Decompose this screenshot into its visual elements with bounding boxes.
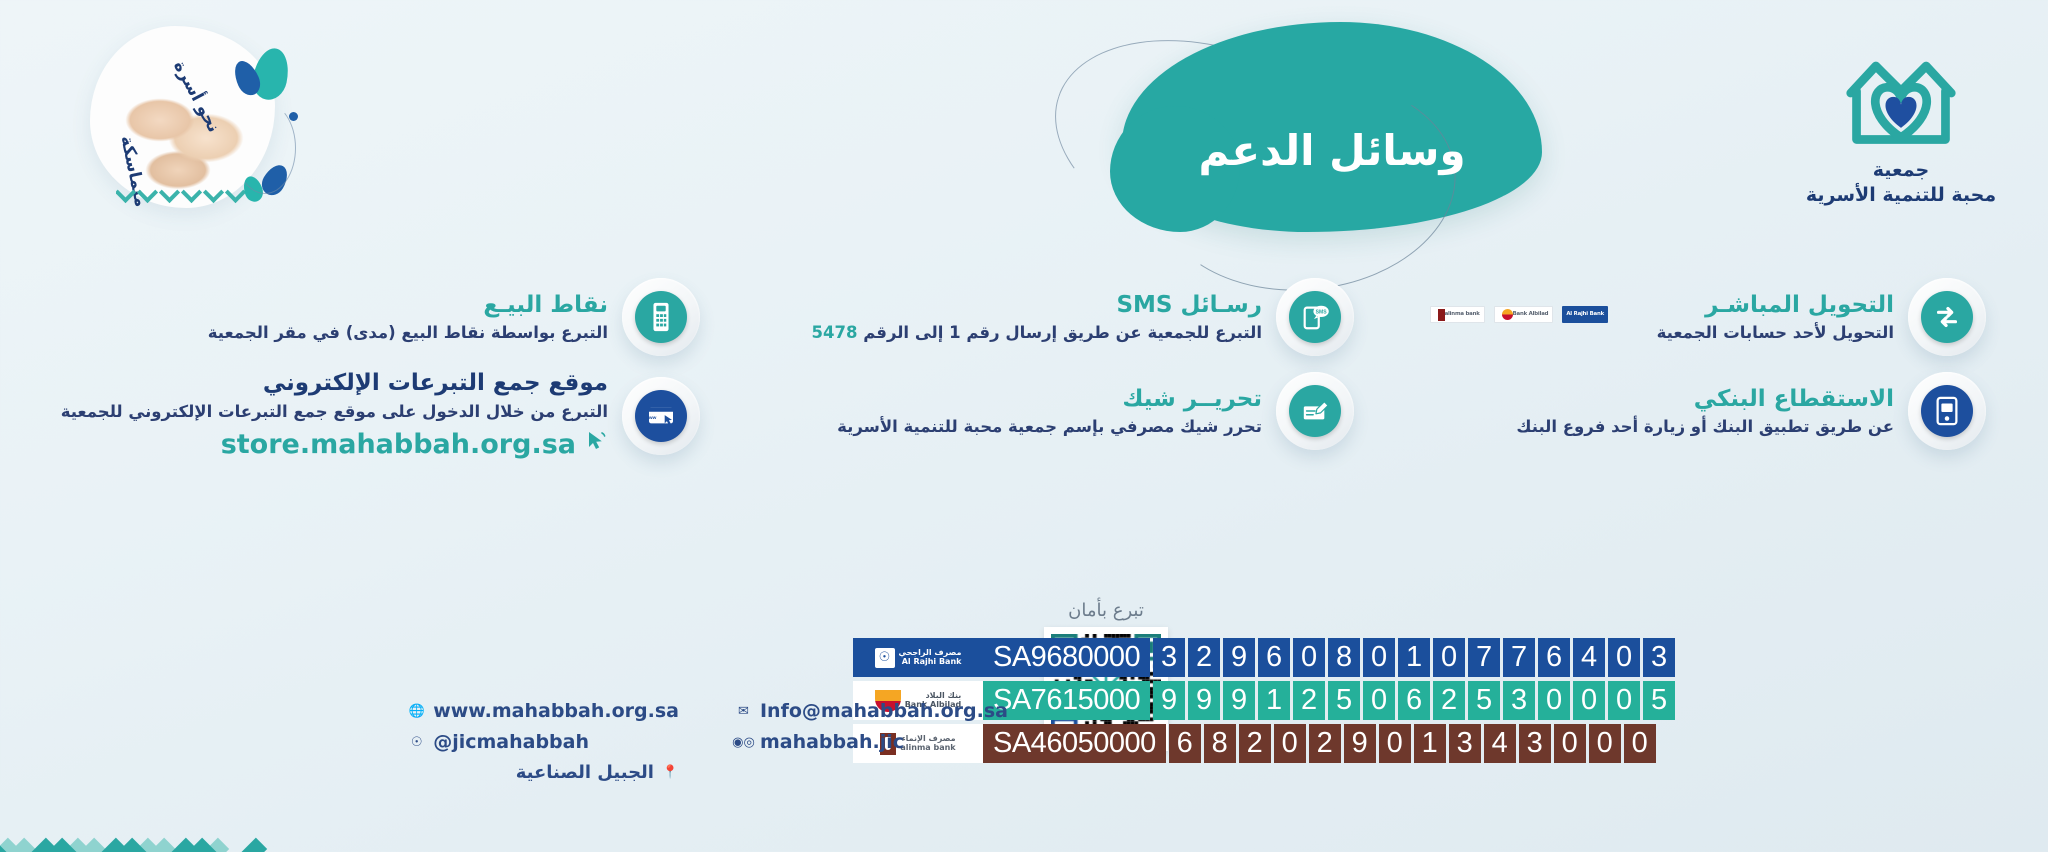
pos-terminal-button[interactable] xyxy=(622,278,700,356)
twitter-icon: ☉ xyxy=(408,734,425,751)
iban-digit: 0 xyxy=(1538,681,1570,720)
channel-online-store[interactable]: www موقع جمع التبرعات الإلكتروني التبرع … xyxy=(61,368,700,463)
sms-phone-button[interactable]: SMS xyxy=(1276,278,1354,356)
channel-direct-transfer[interactable]: التحويل المباشـر التحويل لأحد حسابات الج… xyxy=(1657,278,1986,356)
channel-description: التبرع بواسطة نقاط البيع (مدى) في مقر ال… xyxy=(208,322,608,344)
channel-sms[interactable]: SMS رسـائل SMS التبرع للجمعية عن طريق إر… xyxy=(812,278,1354,356)
iban-digit: 0 xyxy=(1573,681,1605,720)
contact-email-label: Info@mahabbah.org.sa xyxy=(760,700,1008,722)
iban-digit: 7 xyxy=(1468,638,1500,677)
iban-prefix: SA7615000 xyxy=(983,681,1150,720)
iban-digit: 9 xyxy=(1153,681,1185,720)
contact-twitter[interactable]: ☉ @jicmahabbah xyxy=(408,731,679,753)
al-rajhi-bank-logo: Al Rajhi Bank xyxy=(1562,306,1608,323)
arc-ornament xyxy=(234,102,296,194)
iban-digits: 999125062530005 xyxy=(1150,681,1675,720)
iban-digit: 3 xyxy=(1153,638,1185,677)
channel-description: عن طريق تطبيق البنك أو زيارة أحد فروع ال… xyxy=(1516,416,1894,438)
footer-contacts: ✉ Info@mahabbah.org.sa ◉◎ mahabbah.jic 🌐… xyxy=(408,700,1008,783)
badge-line-1: نحو أسرة xyxy=(169,57,223,136)
channel-text: نقاط البيـع التبرع بواسطة نقاط البيع (مد… xyxy=(208,290,608,345)
zigzag-ornament xyxy=(116,180,248,206)
iban-prefix: SA46050000 xyxy=(983,724,1166,763)
channel-title: رسـائل SMS xyxy=(812,290,1262,321)
iban-digit: 2 xyxy=(1309,724,1341,763)
iban-digit: 8 xyxy=(1204,724,1236,763)
iban-digit: 8 xyxy=(1328,638,1360,677)
iban-digit: 5 xyxy=(1468,681,1500,720)
iban-digit: 0 xyxy=(1363,681,1395,720)
bank-app-button[interactable] xyxy=(1908,372,1986,450)
iban-digits: 329608010776403 xyxy=(1150,638,1675,677)
bank-logos-strip: alinma bank Bank Albilad Al Rajhi Bank xyxy=(1430,306,1608,323)
contacts-column-left: 🌐 www.mahabbah.org.sa ☉ @jicmahabbah 📍 ا… xyxy=(408,700,679,783)
house-with-heart-logo xyxy=(1843,42,1959,148)
web-card-button[interactable]: www xyxy=(622,377,700,455)
organization-name-line-1: جمعية xyxy=(1786,158,2016,183)
iban-digit: 2 xyxy=(1188,638,1220,677)
iban-digit: 1 xyxy=(1398,638,1430,677)
organization-logo: جمعية محبة للتنمية الأسرية xyxy=(1786,42,2016,208)
contact-twitter-label: @jicmahabbah xyxy=(433,731,589,753)
iban-digit: 1 xyxy=(1414,724,1446,763)
iban-digit: 0 xyxy=(1274,724,1306,763)
al-rajhi-bank-logo: ☉ مصرف الراجحي Al Rajhi Bank xyxy=(853,638,983,677)
organization-name: جمعية محبة للتنمية الأسرية xyxy=(1786,158,2016,208)
hero-banner: وسائل الدعم xyxy=(1122,22,1542,232)
al-rajhi-symbol: ☉ xyxy=(875,648,895,668)
channel-description: التبرع من خلال الدخول على موقع جمع التبر… xyxy=(61,401,608,423)
iban-digit: 3 xyxy=(1643,638,1675,677)
web-card-icon: www xyxy=(635,390,687,442)
channel-description: التحويل لأحد حسابات الجمعية xyxy=(1657,322,1894,344)
iban-row-al-rajhi: ☉ مصرف الراجحي Al Rajhi Bank SA9680000 3… xyxy=(853,638,1988,677)
alinma-bank-logo: alinma bank xyxy=(1430,306,1485,323)
svg-text:www: www xyxy=(646,415,657,420)
dot-ornament xyxy=(289,112,298,121)
transfer-arrows-button[interactable] xyxy=(1908,278,1986,356)
contact-social-label: mahabbah.jic xyxy=(760,731,904,753)
iban-digit: 4 xyxy=(1484,724,1516,763)
bank-name-en: Al Rajhi Bank xyxy=(902,657,962,666)
channel-text: تحريــر شيك تحرر شيك مصرفي بإسم جمعية مح… xyxy=(837,384,1262,439)
pos-terminal-icon xyxy=(635,291,687,343)
contact-social[interactable]: ◉◎ mahabbah.jic xyxy=(735,731,1008,753)
iban-digit: 5 xyxy=(1328,681,1360,720)
iban-digit: 0 xyxy=(1608,681,1640,720)
iban-digit: 5 xyxy=(1643,681,1675,720)
svg-text:SMS: SMS xyxy=(1316,309,1328,315)
channel-description: التبرع للجمعية عن طريق إرسال رقم 1 إلى ا… xyxy=(812,322,1262,344)
social-icons: ◉◎ xyxy=(735,734,752,751)
sms-phone-icon: SMS xyxy=(1289,291,1341,343)
channel-title: نقاط البيـع xyxy=(208,290,608,321)
iban-digit: 2 xyxy=(1433,681,1465,720)
tagline-badge: نحو أسرة متماسكة xyxy=(72,18,302,218)
channel-title: التحويل المباشـر xyxy=(1657,290,1894,321)
iban-digit: 2 xyxy=(1239,724,1271,763)
organization-name-line-2: محبة للتنمية الأسرية xyxy=(1786,183,2016,208)
channel-title: الاستقطاع البنكي xyxy=(1516,384,1894,415)
store-url-row[interactable]: store.mahabbah.org.sa xyxy=(61,427,608,463)
contact-address: 📍 الجبيل الصناعية xyxy=(408,762,679,783)
iban-digit: 0 xyxy=(1433,638,1465,677)
iban-digit: 2 xyxy=(1293,681,1325,720)
bank-name-ar: مصرف الراجحي xyxy=(899,648,962,657)
bank-name-ar: بنك البلاد xyxy=(926,691,962,700)
iban-digits: 68202901343000 xyxy=(1166,724,1656,763)
iban-digit: 0 xyxy=(1554,724,1586,763)
transfer-arrows-icon xyxy=(1921,291,1973,343)
badge-text: نحو أسرة متماسكة xyxy=(82,32,260,202)
contact-website[interactable]: 🌐 www.mahabbah.org.sa xyxy=(408,700,679,722)
iban-digit: 3 xyxy=(1519,724,1551,763)
iban-digit: 9 xyxy=(1344,724,1376,763)
bank-albilad-logo: Bank Albilad xyxy=(1494,306,1554,323)
iban-prefix: SA9680000 xyxy=(983,638,1150,677)
iban-digit: 0 xyxy=(1293,638,1325,677)
poster-canvas: نحو أسرة متماسكة وسائل الدعم xyxy=(0,0,2048,852)
contact-website-label: www.mahabbah.org.sa xyxy=(433,700,679,722)
channel-title: موقع جمع التبرعات الإلكتروني xyxy=(61,368,608,399)
email-icon: ✉ xyxy=(735,703,752,720)
channel-title: تحريــر شيك xyxy=(837,384,1262,415)
channel-text: رسـائل SMS التبرع للجمعية عن طريق إرسال … xyxy=(812,290,1262,345)
iban-digit: 3 xyxy=(1503,681,1535,720)
contact-email[interactable]: ✉ Info@mahabbah.org.sa xyxy=(735,700,1008,722)
iban-digit: 1 xyxy=(1258,681,1290,720)
iban-digit: 6 xyxy=(1169,724,1201,763)
iban-digit: 9 xyxy=(1188,681,1220,720)
iban-digit: 6 xyxy=(1258,638,1290,677)
contacts-column-right: ✉ Info@mahabbah.org.sa ◉◎ mahabbah.jic xyxy=(735,700,1008,783)
iban-digit: 0 xyxy=(1608,638,1640,677)
iban-digit: 3 xyxy=(1449,724,1481,763)
channel-point-of-sale[interactable]: نقاط البيـع التبرع بواسطة نقاط البيع (مد… xyxy=(208,278,700,356)
iban-digit: 9 xyxy=(1223,681,1255,720)
iban-table: ☉ مصرف الراجحي Al Rajhi Bank SA9680000 3… xyxy=(853,638,1988,763)
iban-digit: 0 xyxy=(1624,724,1656,763)
channel-bank-deduction[interactable]: الاستقطاع البنكي عن طريق تطبيق البنك أو … xyxy=(1516,372,1986,450)
iban-digit: 9 xyxy=(1223,638,1255,677)
contact-address-label: الجبيل الصناعية xyxy=(516,762,654,783)
iban-digit: 0 xyxy=(1363,638,1395,677)
store-url[interactable]: store.mahabbah.org.sa xyxy=(221,427,576,463)
sms-shortcode: 5478 xyxy=(812,323,858,342)
channel-text: موقع جمع التبرعات الإلكتروني التبرع من خ… xyxy=(61,368,608,463)
iban-row-alinma-bank: مصرف الإنماء alinma bank SA46050000 6820… xyxy=(853,724,1988,763)
cursor-click-icon xyxy=(584,427,608,463)
iban-digit: 6 xyxy=(1398,681,1430,720)
iban-digit: 6 xyxy=(1538,638,1570,677)
cheque-pen-button[interactable] xyxy=(1276,372,1354,450)
page-title: وسائل الدعم xyxy=(1122,126,1542,175)
channel-text: الاستقطاع البنكي عن طريق تطبيق البنك أو … xyxy=(1516,384,1894,439)
iban-digit: 7 xyxy=(1503,638,1535,677)
iban-digit: 0 xyxy=(1379,724,1411,763)
cheque-pen-icon xyxy=(1289,385,1341,437)
qr-label: تبرع بأمان xyxy=(1044,600,1168,621)
bank-app-icon xyxy=(1921,385,1973,437)
channel-description: تحرر شيك مصرفي بإسم جمعية محبة للتنمية ا… xyxy=(837,416,1262,438)
iban-digit: 4 xyxy=(1573,638,1605,677)
zigzag-footer-ornament xyxy=(0,742,280,852)
sms-description-text: التبرع للجمعية عن طريق إرسال رقم 1 إلى ا… xyxy=(857,323,1262,342)
channel-cheque[interactable]: تحريــر شيك تحرر شيك مصرفي بإسم جمعية مح… xyxy=(837,372,1354,450)
location-pin-icon: 📍 xyxy=(662,764,679,781)
iban-row-bank-albilad: بنك البلاد Bank Albilad SA7615000 999125… xyxy=(853,681,1988,720)
iban-digit: 0 xyxy=(1589,724,1621,763)
channel-text: التحويل المباشـر التحويل لأحد حسابات الج… xyxy=(1657,290,1894,345)
globe-icon: 🌐 xyxy=(408,703,425,720)
